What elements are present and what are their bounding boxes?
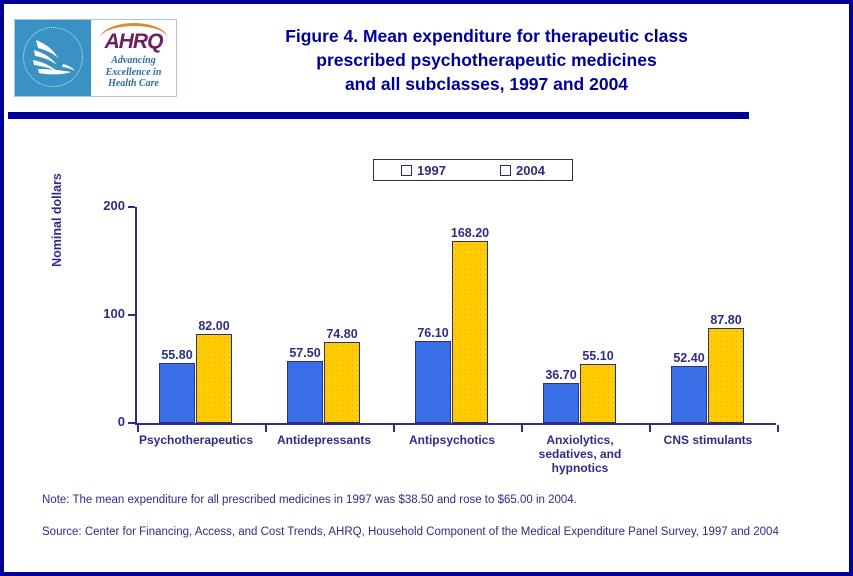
y-axis-title: Nominal dollars <box>50 155 64 285</box>
x-axis-label-line: sedatives, and <box>510 447 650 461</box>
figure-footnotes: Note: The mean expenditure for all presc… <box>42 493 832 539</box>
bar-value-label: 76.10 <box>417 326 448 340</box>
y-tick-mark <box>128 314 135 316</box>
bar-1997-psychotherapeutics[interactable]: 55.80 <box>159 363 195 423</box>
figure-container: AHRQ Advancing Excellence in Health Care… <box>0 0 853 576</box>
bar-value-label: 55.10 <box>582 349 613 363</box>
bar-value-label: 168.20 <box>451 226 489 240</box>
bar-group: 36.7055.10 <box>543 207 617 423</box>
x-axis-label-line: CNS stimulants <box>638 433 778 447</box>
bar-1997-anxiolytics-sedatives-and-hypnotics[interactable]: 36.70 <box>543 383 579 423</box>
note-text: Note: The mean expenditure for all presc… <box>42 493 832 507</box>
x-axis-line <box>135 423 776 425</box>
x-axis-label-line: hypnotics <box>510 461 650 475</box>
bar-value-label: 87.80 <box>710 313 741 327</box>
x-tick-mark <box>649 425 651 432</box>
bar-1997-antidepressants[interactable]: 57.50 <box>287 361 323 423</box>
x-tick-mark <box>137 425 139 432</box>
bar-1997-cns-stimulants[interactable]: 52.40 <box>671 366 707 423</box>
y-tick-mark <box>128 422 135 424</box>
bar-group: 52.4087.80 <box>671 207 745 423</box>
bar-value-label: 57.50 <box>289 346 320 360</box>
x-axis-label-line: Psychotherapeutics <box>126 433 266 447</box>
x-axis-label-3: Antipsychotics <box>382 433 522 447</box>
x-axis-label-5: CNS stimulants <box>638 433 778 447</box>
bar-2004-psychotherapeutics[interactable]: 82.00 <box>196 334 232 423</box>
x-axis-label-line: Antipsychotics <box>382 433 522 447</box>
x-axis-label-line: Antidepressants <box>254 433 394 447</box>
bar-1997-antipsychotics[interactable]: 76.10 <box>415 341 451 423</box>
y-tick-label: 100 <box>85 306 125 321</box>
y-axis-line <box>135 207 137 425</box>
bar-2004-cns-stimulants[interactable]: 87.80 <box>708 328 744 423</box>
x-axis-label-line: Anxiolytics, <box>510 433 650 447</box>
source-text: Source: Center for Financing, Access, an… <box>42 525 832 539</box>
x-axis-label-1: Psychotherapeutics <box>126 433 266 447</box>
bar-2004-antidepressants[interactable]: 74.80 <box>324 342 360 423</box>
x-tick-mark <box>777 425 779 432</box>
chart-plot-area: Nominal dollars 0100200 55.8082.0057.507… <box>4 4 849 572</box>
x-tick-mark <box>521 425 523 432</box>
bar-value-label: 52.40 <box>673 351 704 365</box>
bar-2004-antipsychotics[interactable]: 168.20 <box>452 241 488 423</box>
y-tick-label: 200 <box>85 198 125 213</box>
bar-value-label: 55.80 <box>161 348 192 362</box>
bar-group: 55.8082.00 <box>159 207 233 423</box>
bar-value-label: 74.80 <box>326 327 357 341</box>
bar-group: 57.5074.80 <box>287 207 361 423</box>
bar-value-label: 82.00 <box>198 319 229 333</box>
x-axis-label-4: Anxiolytics,sedatives, andhypnotics <box>510 433 650 475</box>
y-tick-label: 0 <box>85 414 125 429</box>
bar-value-label: 36.70 <box>545 368 576 382</box>
x-tick-mark <box>265 425 267 432</box>
y-tick-mark <box>128 206 135 208</box>
x-tick-mark <box>393 425 395 432</box>
x-axis-label-2: Antidepressants <box>254 433 394 447</box>
bar-group: 76.10168.20 <box>415 207 489 423</box>
bar-2004-anxiolytics-sedatives-and-hypnotics[interactable]: 55.10 <box>580 364 616 424</box>
